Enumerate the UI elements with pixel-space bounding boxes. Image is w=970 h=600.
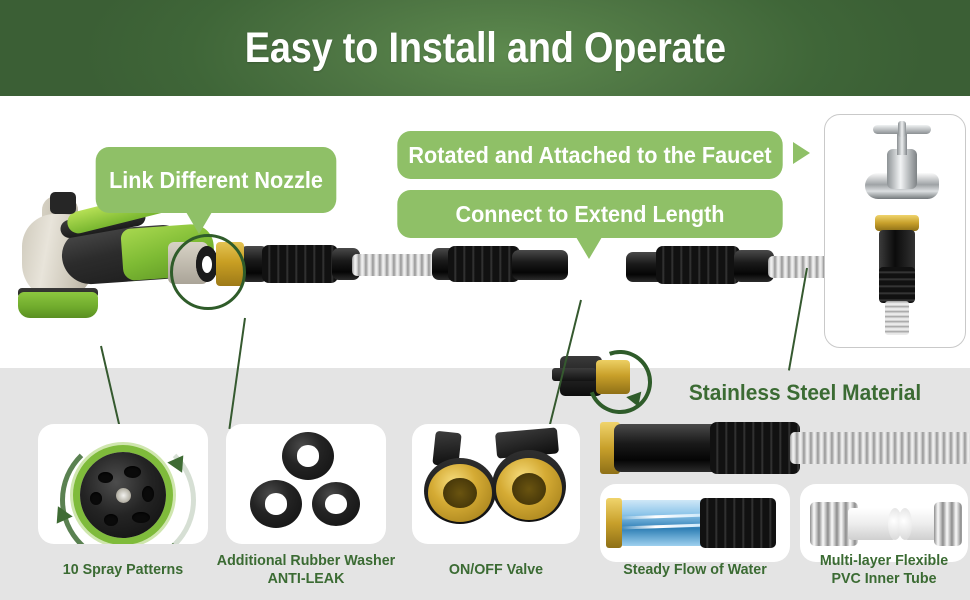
callout-label: Link Different Nozzle bbox=[109, 167, 323, 194]
spray-center-screw bbox=[116, 488, 131, 503]
rubber-washer-icon bbox=[250, 480, 302, 528]
brass-valve-on-icon bbox=[496, 458, 562, 520]
infographic-canvas: Easy to Install and Operate bbox=[0, 0, 970, 600]
callout-tail-faucet bbox=[793, 142, 810, 164]
spray-hole bbox=[142, 486, 154, 502]
caption-line-2: ANTI-LEAK bbox=[211, 570, 401, 588]
faucet-connection-inset bbox=[824, 114, 966, 348]
caption-steady-flow: Steady Flow of Water bbox=[595, 561, 795, 579]
header-banner: Easy to Install and Operate bbox=[0, 0, 970, 96]
feature-card-steady-flow[interactable] bbox=[600, 484, 790, 562]
callout-tail-extend bbox=[576, 237, 602, 259]
callout-label: Connect to Extend Length bbox=[455, 201, 724, 228]
caption-on-off-valve: ON/OFF Valve bbox=[416, 561, 576, 579]
hose-black-seg-4 bbox=[512, 250, 568, 280]
callout-rotated-attached-faucet[interactable]: Rotated and Attached to the Faucet bbox=[397, 131, 782, 179]
pvc-tube-open-end bbox=[898, 508, 912, 540]
callout-tail-nozzle bbox=[186, 212, 212, 234]
caption-pvc-tube: Multi-layer Flexible PVC Inner Tube bbox=[800, 552, 967, 588]
hero-hose-ribs bbox=[710, 422, 800, 474]
caption-line-1: Additional Rubber Washer bbox=[211, 552, 401, 570]
spray-hole bbox=[104, 514, 118, 526]
spray-gun-dial bbox=[18, 292, 98, 318]
feature-card-spray-patterns[interactable] bbox=[38, 424, 208, 544]
feature-card-rubber-washer[interactable] bbox=[226, 424, 386, 544]
callout-connect-extend-length[interactable]: Connect to Extend Length bbox=[397, 190, 782, 238]
caption-spray-patterns: 10 Spray Patterns bbox=[42, 561, 204, 579]
steady-flow-hose-ribs bbox=[700, 498, 776, 548]
spray-hole bbox=[90, 492, 102, 505]
hose-ribbed-seg-2 bbox=[448, 246, 520, 282]
rubber-washer-icon bbox=[282, 432, 334, 480]
spray-hole bbox=[132, 512, 150, 523]
hose-ribbed-seg-1 bbox=[262, 245, 338, 283]
brass-valve-off-icon bbox=[428, 464, 492, 522]
inset-brass-collar bbox=[875, 215, 919, 231]
feature-card-pvc-tube[interactable] bbox=[800, 484, 968, 562]
spray-gun-knob bbox=[50, 192, 76, 214]
caption-line-1: Multi-layer Flexible bbox=[800, 552, 967, 570]
steady-flow-brass-fitting bbox=[606, 498, 622, 548]
hose-ribbed-seg-3 bbox=[656, 246, 740, 284]
faucet-handle-vertical bbox=[898, 121, 906, 137]
highlight-circle-washer bbox=[170, 234, 246, 310]
caption-line-2: PVC Inner Tube bbox=[800, 570, 967, 588]
spray-hole bbox=[124, 466, 141, 478]
inset-steel-hose bbox=[885, 301, 909, 335]
feature-card-on-off-valve[interactable] bbox=[412, 424, 580, 544]
faucet-body bbox=[887, 149, 917, 189]
inset-hose-ribs bbox=[879, 267, 915, 303]
page-title: Easy to Install and Operate bbox=[244, 27, 725, 70]
callout-label: Rotated and Attached to the Faucet bbox=[408, 142, 771, 169]
rubber-washer-icon bbox=[312, 482, 360, 526]
stainless-steel-title: Stainless Steel Material bbox=[648, 380, 962, 406]
hero-hose-steel bbox=[790, 432, 970, 464]
spray-hole bbox=[98, 472, 113, 483]
hose-steel-seg-1 bbox=[352, 254, 440, 276]
steel-coil-icon bbox=[934, 502, 962, 546]
callout-link-different-nozzle[interactable]: Link Different Nozzle bbox=[96, 147, 337, 213]
caption-rubber-washer: Additional Rubber Washer ANTI-LEAK bbox=[211, 552, 401, 588]
